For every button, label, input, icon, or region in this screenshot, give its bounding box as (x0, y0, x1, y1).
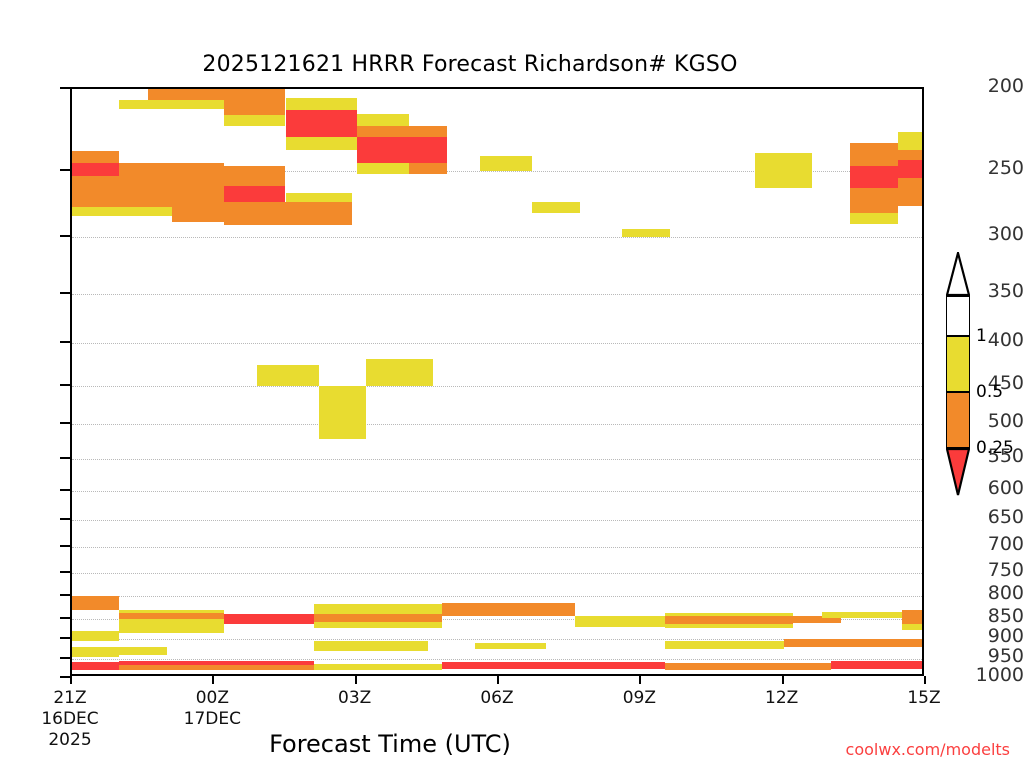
y-tick-label: 750 (964, 561, 1024, 580)
y-tick-mark (60, 545, 70, 547)
x-tick-mark (70, 676, 72, 684)
y-tick-mark (60, 169, 70, 171)
colorbar-top-arrow-icon (946, 252, 970, 296)
x-axis-title: Forecast Time (UTC) (70, 730, 710, 758)
y-tick-mark (60, 676, 70, 678)
y-tick-mark (60, 457, 70, 459)
y-tick-mark (60, 87, 70, 89)
y-tick-label: 800 (964, 584, 1024, 603)
y-tick-label: 500 (964, 412, 1024, 431)
y-tick-label: 1000 (964, 666, 1024, 685)
x-tick-mark (639, 676, 641, 684)
x-tick-label: 09Z (623, 688, 656, 708)
y-tick-mark (60, 422, 70, 424)
y-tick-label: 650 (964, 508, 1024, 527)
y-tick-label: 700 (964, 535, 1024, 554)
terrain-layer (72, 89, 922, 674)
plot-area (70, 87, 924, 676)
x-tick-date: 17DEC (184, 709, 241, 729)
colorbar-segment[interactable] (946, 392, 970, 448)
x-tick-mark (212, 676, 214, 684)
x-tick-mark (782, 676, 784, 684)
x-tick-label: 03Z (338, 688, 371, 708)
y-tick-label: 300 (964, 225, 1024, 244)
x-tick-label: 12Z (765, 688, 798, 708)
y-tick-mark (60, 292, 70, 294)
y-tick-mark (60, 617, 70, 619)
y-tick-label: 350 (964, 282, 1024, 301)
y-tick-label: 900 (964, 627, 1024, 646)
colorbar-bottom-arrow-icon (946, 448, 970, 496)
x-tick-date: 16DEC (41, 709, 98, 729)
y-tick-mark (60, 594, 70, 596)
y-tick-mark (60, 637, 70, 639)
x-tick-label: 00Z (196, 688, 229, 708)
y-tick-mark (60, 571, 70, 573)
colorbar-tick-label: 0.5 (976, 382, 1003, 402)
colorbar-tick-label: 1 (976, 326, 987, 346)
x-tick-mark (924, 676, 926, 684)
colorbar-tick-label: 0.25 (976, 438, 1014, 458)
y-tick-mark (60, 489, 70, 491)
y-tick-label: 850 (964, 607, 1024, 626)
y-tick-label: 600 (964, 479, 1024, 498)
x-tick-mark (355, 676, 357, 684)
chart-root: 2025121621 HRRR Forecast Richardson# KGS… (0, 0, 1024, 768)
colorbar-segment[interactable] (946, 336, 970, 392)
colorbar-segment[interactable] (946, 296, 970, 336)
y-tick-label: 200 (964, 77, 1024, 96)
x-tick-label: 21Z (53, 688, 86, 708)
credit-link[interactable]: coolwx.com/modelts (846, 740, 1010, 759)
y-tick-label: 400 (964, 331, 1024, 350)
colorbar[interactable]: 10.50.25 (946, 296, 970, 468)
y-tick-label: 250 (964, 159, 1024, 178)
y-tick-mark (60, 518, 70, 520)
y-tick-mark (60, 384, 70, 386)
x-tick-label: 15Z (907, 688, 940, 708)
x-tick-mark (497, 676, 499, 684)
y-tick-mark (60, 657, 70, 659)
y-tick-mark (60, 235, 70, 237)
chart-title: 2025121621 HRRR Forecast Richardson# KGS… (0, 52, 940, 77)
y-tick-mark (60, 341, 70, 343)
x-tick-label: 06Z (480, 688, 513, 708)
